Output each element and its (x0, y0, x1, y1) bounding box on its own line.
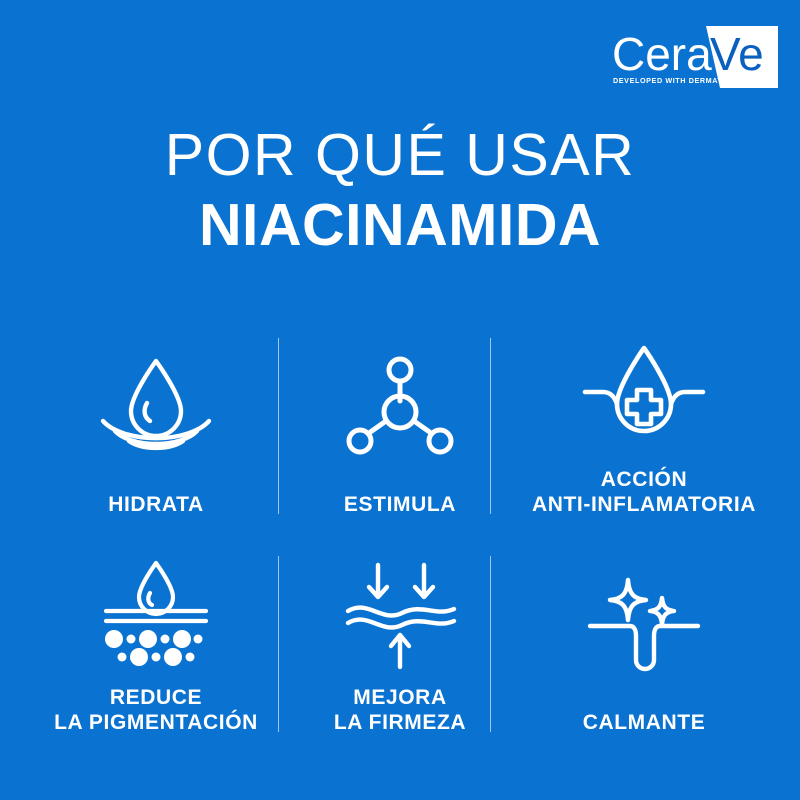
benefit-item-hidrata: HIDRATA (34, 330, 278, 520)
logo-text-ve: Ve (710, 28, 764, 80)
benefit-item-firmeza: MEJORA LA FIRMEZA (278, 548, 522, 738)
benefit-label: REDUCE LA PIGMENTACIÓN (54, 686, 258, 736)
benefit-label: HIDRATA (108, 493, 204, 518)
icon-wrap (522, 330, 766, 468)
icon-wrap (278, 548, 522, 686)
logo-text-cera: Cera (612, 28, 712, 80)
benefits-row-1: HIDRATA (34, 330, 766, 520)
benefits-row-2: REDUCE LA PIGMENTACIÓN (34, 548, 766, 738)
icon-wrap (34, 330, 278, 493)
drop-medical-cross-icon (579, 340, 709, 458)
logo-tagline: DEVELOPED WITH DERMATOLOGISTS (613, 76, 764, 85)
page-title: POR QUÉ USAR NIACINAMIDA (0, 126, 800, 255)
benefit-item-calmante: CALMANTE (522, 548, 766, 738)
title-line-1: POR QUÉ USAR (0, 126, 800, 185)
benefit-label: CALMANTE (583, 711, 706, 736)
title-line-2: NIACINAMIDA (0, 196, 800, 255)
benefit-item-antiinflamatoria: ACCIÓN ANTI-INFLAMATORIA (522, 330, 766, 520)
skin-layers-pigment-dots-icon (94, 561, 218, 673)
icon-wrap (522, 548, 766, 711)
cerave-logo: Cera Ve DEVELOPED WITH DERMATOLOGISTS (610, 26, 778, 88)
pore-sparkles-icon (582, 574, 706, 686)
molecule-icon (341, 353, 459, 471)
icon-wrap (34, 548, 278, 686)
benefit-label: MEJORA LA FIRMEZA (334, 686, 466, 736)
benefit-label: ESTIMULA (344, 493, 456, 518)
benefit-item-pigmentacion: REDUCE LA PIGMENTACIÓN (34, 548, 278, 738)
icon-wrap (278, 330, 522, 493)
benefits-grid: HIDRATA (34, 330, 766, 738)
benefit-label: ACCIÓN ANTI-INFLAMATORIA (532, 468, 756, 518)
water-drop-ripples-icon (95, 353, 217, 471)
benefit-item-estimula: ESTIMULA (278, 330, 522, 520)
pigment-dots (105, 630, 203, 666)
poster-canvas: Cera Ve DEVELOPED WITH DERMATOLOGISTS PO… (0, 0, 800, 800)
skin-firmness-arrows-icon (338, 561, 462, 673)
